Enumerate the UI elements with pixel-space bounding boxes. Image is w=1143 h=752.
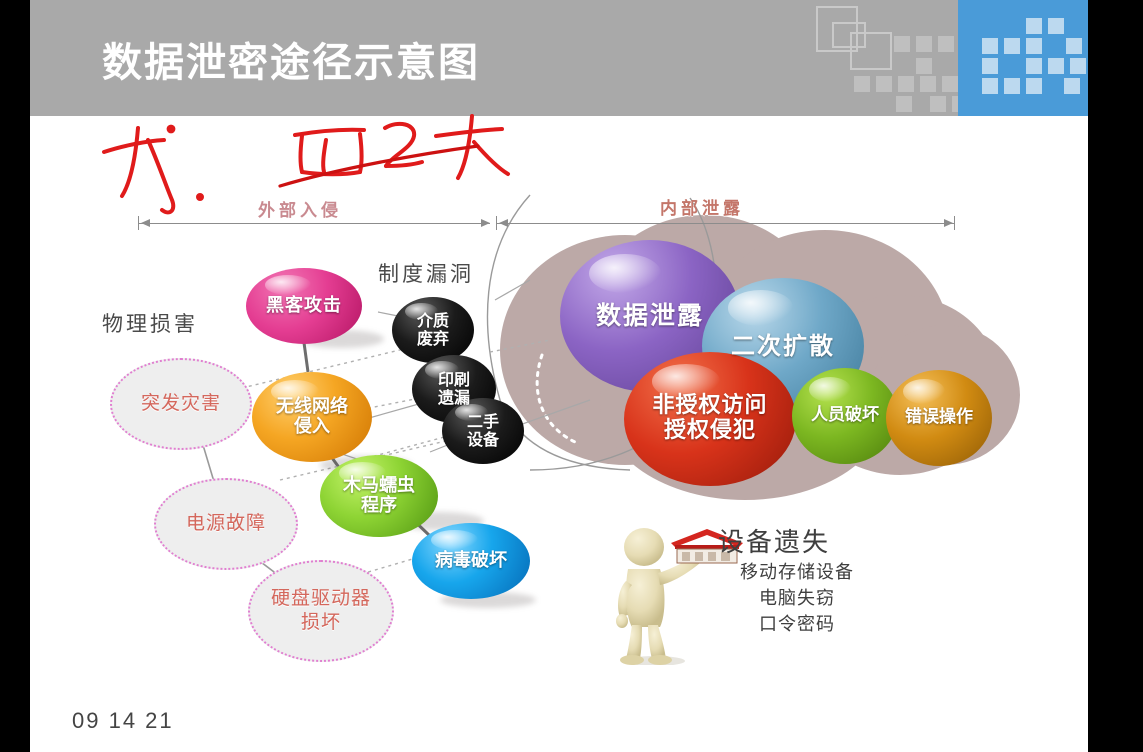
decor-square <box>938 36 954 52</box>
page-title: 数据泄密途径示意图 <box>102 30 480 88</box>
decor-square <box>896 96 912 112</box>
bubble-label: 黑客攻击 <box>266 296 342 316</box>
caption-policy-gap: 制度漏洞 <box>378 258 474 288</box>
ellipse-label: 突发灾害 <box>141 392 221 416</box>
bubble-label-line2: 授权侵犯 <box>664 419 756 444</box>
decor-square <box>930 96 946 112</box>
device-loss-item: 移动存储设备 <box>702 560 892 586</box>
bubble-label-line2: 程序 <box>361 496 397 516</box>
footer-timestamp: 09 14 21 <box>72 708 174 734</box>
decor-outline-square-3 <box>850 32 892 70</box>
bubble-label-line1: 无线网络 <box>276 397 348 417</box>
bubble-virus-damage[interactable]: 病毒破坏 <box>412 523 530 599</box>
decor-blue-square <box>1048 58 1064 74</box>
physical-damage-item-power-failure[interactable]: 电源故障 <box>154 478 298 570</box>
bubble-label: 数据泄露 <box>596 302 704 330</box>
decor-blue-square <box>1070 58 1086 74</box>
decor-square <box>942 76 958 92</box>
dimension-label-external: 外部入侵 <box>258 196 342 221</box>
decor-square <box>894 36 910 52</box>
bubble-label-line2: 侵入 <box>294 417 330 437</box>
dimension-label-internal: 内部泄露 <box>660 194 744 219</box>
bubble-label-line1: 非授权访问 <box>652 394 767 419</box>
decor-blue-square <box>1066 38 1082 54</box>
decor-blue-square <box>1004 78 1020 94</box>
decor-blue-square <box>1026 78 1042 94</box>
device-loss-item: 电脑失窃 <box>702 586 892 612</box>
device-loss-title: 设备遗失 <box>718 522 830 559</box>
bubble-label: 病毒破坏 <box>435 551 507 571</box>
bubble-label-line2: 遗漏 <box>438 389 470 407</box>
decor-blue-square <box>1064 78 1080 94</box>
bubble-label-line1: 印刷 <box>438 371 470 389</box>
decor-blue-square <box>1026 38 1042 54</box>
decor-square <box>916 58 932 74</box>
decor-blue-square <box>982 78 998 94</box>
decor-square <box>916 36 932 52</box>
bubble-unauthorized-access[interactable]: 非授权访问 授权侵犯 <box>624 352 796 486</box>
decor-square <box>920 76 936 92</box>
device-loss-item: 口令密码 <box>702 612 892 638</box>
ellipse-label-line1: 硬盘驱动器 <box>271 587 371 611</box>
bubble-second-hand-device[interactable]: 二手 设备 <box>442 398 524 464</box>
bubble-trojan-worm[interactable]: 木马蠕虫 程序 <box>320 455 438 537</box>
device-loss-items: 移动存储设备 电脑失窃 口令密码 <box>702 560 892 638</box>
bubble-hacker-attack[interactable]: 黑客攻击 <box>246 268 362 344</box>
decor-square <box>854 76 870 92</box>
bubble-wireless-intrusion[interactable]: 无线网络 侵入 <box>252 372 372 462</box>
decor-square <box>898 76 914 92</box>
physical-damage-item-disk-failure[interactable]: 硬盘驱动器 损坏 <box>248 560 394 662</box>
bubble-personnel-sabotage[interactable]: 人员破坏 <box>792 368 898 464</box>
bubble-label-line1: 木马蠕虫 <box>343 476 415 496</box>
bubble-label: 人员破坏 <box>811 406 879 425</box>
caption-physical-damage: 物理损害 <box>102 308 198 338</box>
bubble-label: 错误操作 <box>905 408 973 427</box>
decor-blue-square <box>1048 18 1064 34</box>
bubble-label-line1: 二手 <box>467 413 499 431</box>
ellipse-label: 电源故障 <box>186 512 266 536</box>
screenshot-frame: 数据泄密途径示意图 <box>0 0 1143 752</box>
bubble-label: 二次扩散 <box>731 333 835 360</box>
bubble-label-line1: 介质 <box>417 312 449 330</box>
ellipse-label-line2: 损坏 <box>301 611 341 635</box>
decor-square <box>876 76 892 92</box>
header-accent-panel <box>958 0 1088 116</box>
decor-blue-square <box>982 58 998 74</box>
slide-header: 数据泄密途径示意图 <box>30 0 1088 116</box>
decor-blue-square <box>1026 18 1042 34</box>
bubble-wrong-operation[interactable]: 错误操作 <box>886 370 992 466</box>
bubble-media-disposal[interactable]: 介质 废弃 <box>392 297 474 363</box>
decor-blue-square <box>1004 38 1020 54</box>
slide-canvas: 数据泄密途径示意图 <box>30 0 1088 752</box>
physical-damage-item-sudden-disaster[interactable]: 突发灾害 <box>110 358 252 450</box>
decor-blue-square <box>1026 58 1042 74</box>
bubble-label-line2: 设备 <box>467 431 499 449</box>
decor-blue-square <box>982 38 998 54</box>
bubble-label-line2: 废弃 <box>417 330 449 348</box>
